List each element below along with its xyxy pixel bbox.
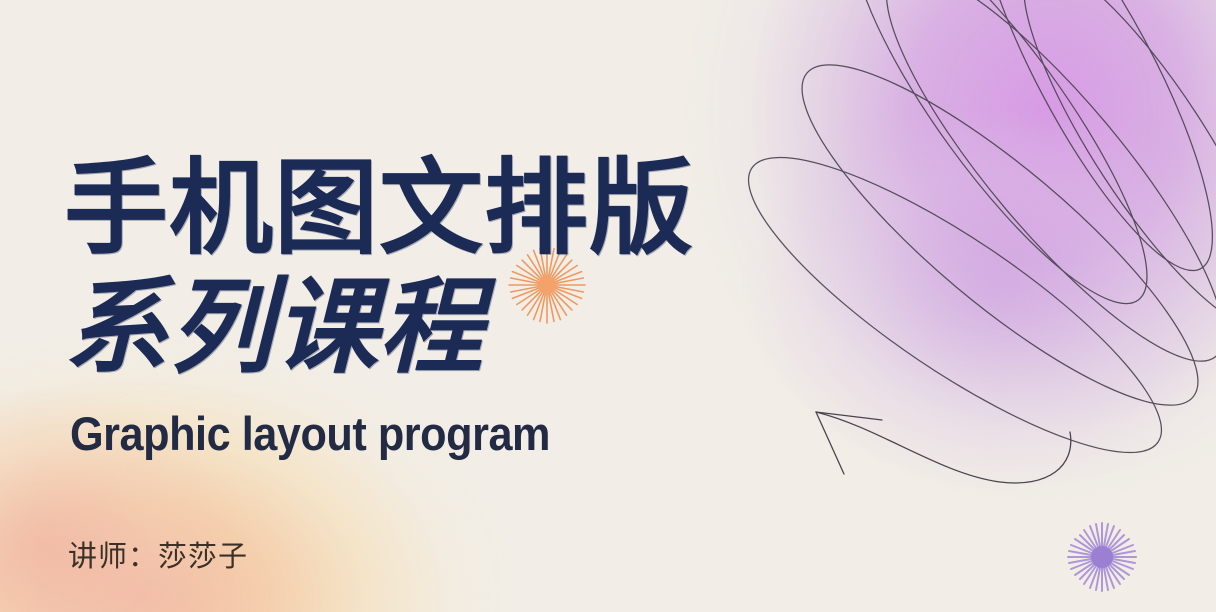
title-line-2: 系列课程 [64, 269, 694, 388]
page-title: 手机图文排版 系列课程 [64, 150, 694, 387]
instructor-credit: 讲师：莎莎子 [68, 533, 248, 575]
course-poster: 手机图文排版 系列课程 Graphic layout program 讲师：莎莎… [0, 0, 1216, 612]
title-line-1: 手机图文排版 [64, 150, 694, 269]
curved-arrow-icon [790, 370, 1090, 510]
text-content: 手机图文排版 系列课程 Graphic layout program 讲师：莎莎… [64, 0, 764, 612]
purple-starburst-icon [1063, 518, 1141, 596]
subtitle: Graphic layout program [70, 406, 550, 461]
